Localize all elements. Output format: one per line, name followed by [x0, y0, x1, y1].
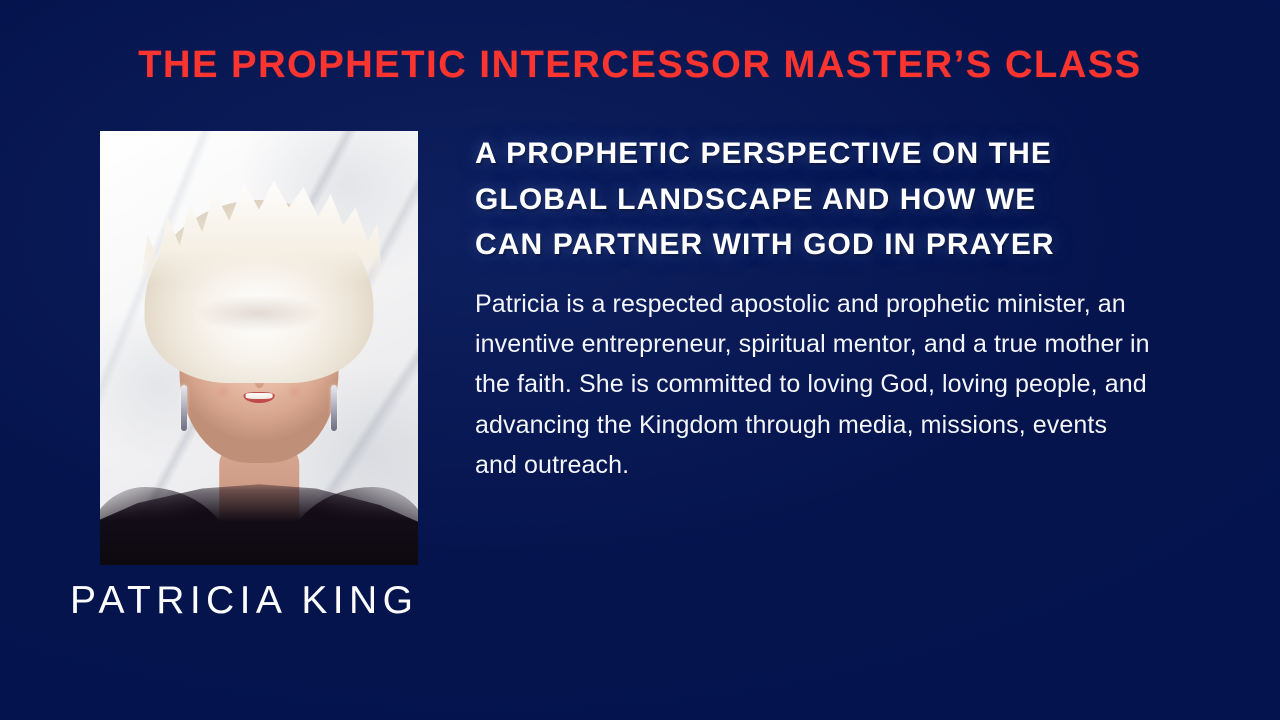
speaker-photo-image	[100, 131, 418, 565]
event-title: THE PROPHETIC INTERCESSOR MASTER’S CLASS	[0, 46, 1280, 86]
portrait-earring-left	[181, 385, 187, 431]
speaker-name: PATRICIA KING	[70, 580, 418, 623]
portrait-mouth	[243, 392, 275, 403]
speaker-photo	[100, 131, 418, 565]
session-details: A PROPHETIC PERSPECTIVE ON THE GLOBAL LA…	[475, 131, 1155, 485]
portrait-earring-right	[331, 385, 337, 431]
speaker-bio: Patricia is a respected apostolic and pr…	[475, 284, 1155, 485]
portrait-cheek-left	[211, 380, 235, 403]
event-title-text: THE PROPHETIC INTERCESSOR MASTER’S CLASS	[138, 46, 1142, 86]
portrait-teeth	[246, 393, 273, 399]
portrait-hair-shadow	[170, 296, 348, 339]
session-heading: A PROPHETIC PERSPECTIVE ON THE GLOBAL LA…	[475, 131, 1095, 268]
portrait-cheek-right	[283, 380, 307, 403]
promo-slide: THE PROPHETIC INTERCESSOR MASTER’S CLASS	[0, 0, 1280, 720]
